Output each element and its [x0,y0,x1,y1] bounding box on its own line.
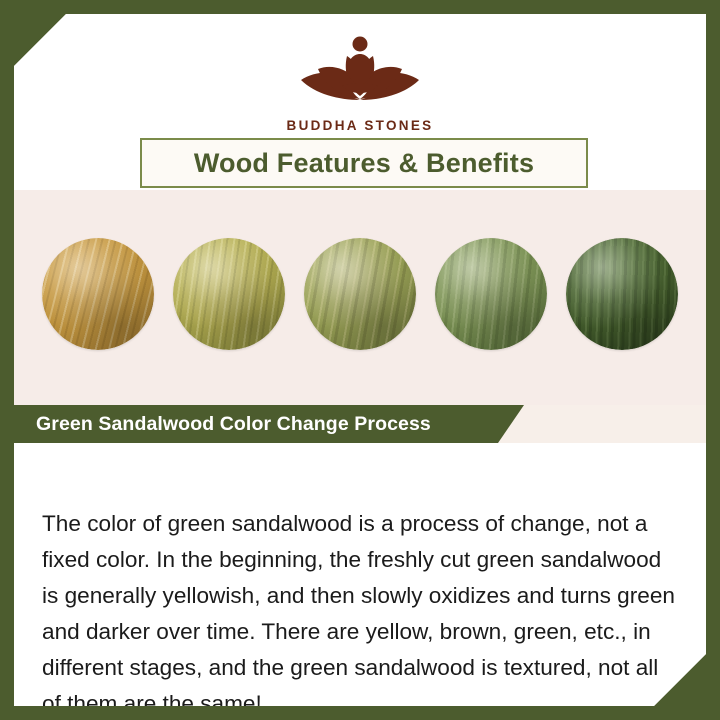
bead-stage-2 [173,238,285,350]
description-paragraph: The color of green sandalwood is a proce… [42,506,682,706]
brand-name: BUDDHA STONES [14,118,706,133]
poster-page: BUDDHA STONES Wood Features & Benefits [0,0,720,720]
lotus-meditation-icon [285,28,435,116]
bead-highlight [173,238,285,350]
bead-gallery [14,190,706,405]
description-card: The color of green sandalwood is a proce… [14,443,706,706]
bead-highlight [304,238,416,350]
section-header-label: Green Sandalwood Color Change Process [14,413,431,436]
page-title-text: Wood Features & Benefits [194,148,534,179]
bead-highlight [435,238,547,350]
page-title: Wood Features & Benefits [140,138,588,188]
bead-highlight [566,238,678,350]
header-section: BUDDHA STONES Wood Features & Benefits [14,14,706,190]
bead-highlight [42,238,154,350]
bead-stage-1 [42,238,154,350]
section-header: Green Sandalwood Color Change Process [14,405,524,443]
bead-row [14,238,706,350]
brand-logo: BUDDHA STONES [14,28,706,133]
bead-stage-4 [435,238,547,350]
bead-stage-5 [566,238,678,350]
content-panel: BUDDHA STONES Wood Features & Benefits [14,14,706,706]
bead-stage-3 [304,238,416,350]
